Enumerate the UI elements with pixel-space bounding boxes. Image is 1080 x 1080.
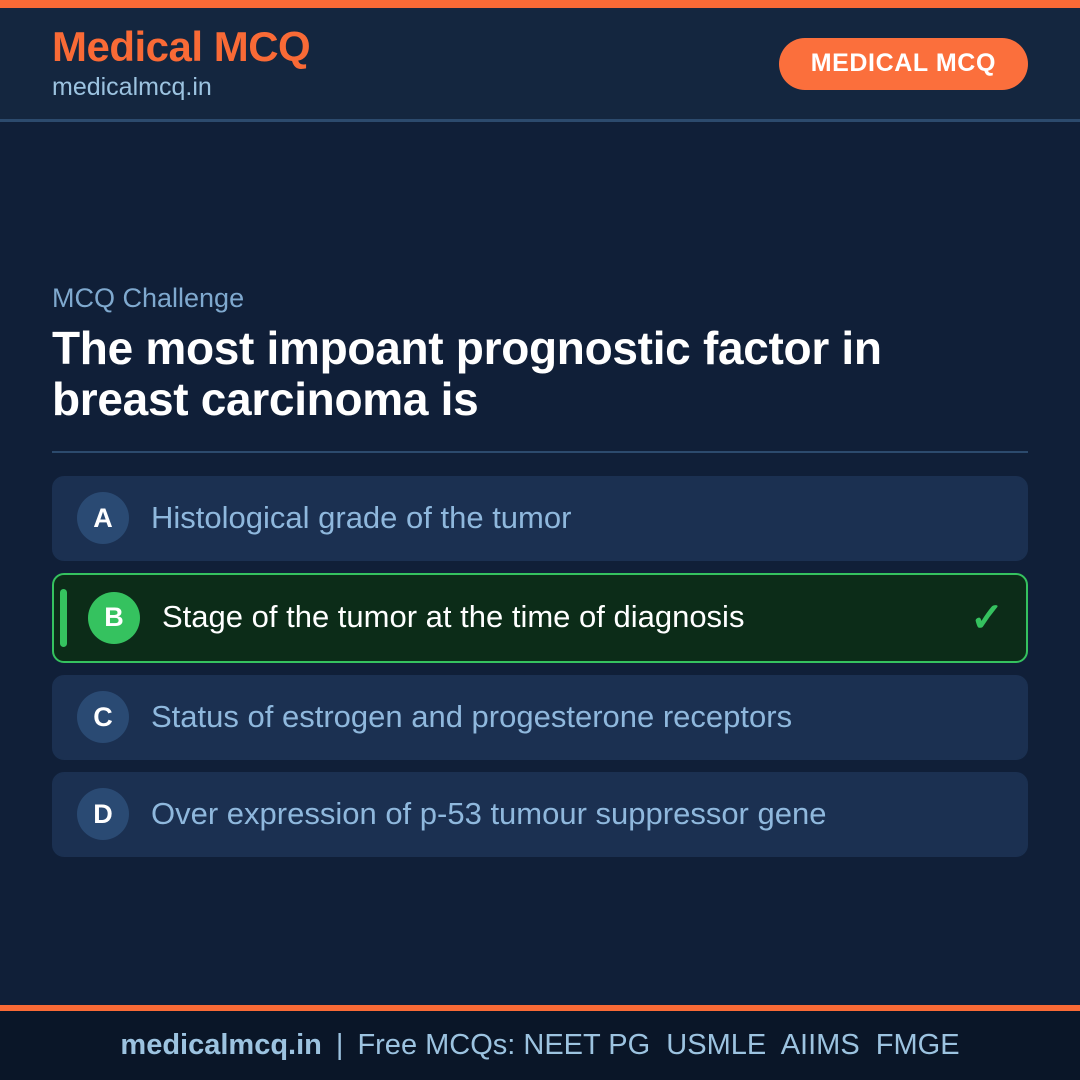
option-d[interactable]: D Over expression of p-53 tumour suppres… [52,772,1028,857]
option-a-text: Histological grade of the tumor [151,501,949,536]
top-accent-strip [0,0,1080,8]
option-c-letter: C [77,691,129,743]
question-block: MCQ Challenge The most impoant prognosti… [52,282,1028,856]
footer-bar: medicalmcq.in | Free MCQs: NEET PG USMLE… [0,1011,1080,1080]
brand-subtitle: medicalmcq.in [52,72,310,102]
brand-title: Medical MCQ [52,25,310,70]
checkmark-icon: ✓ [970,598,1004,638]
header-badge: MEDICAL MCQ [779,38,1028,90]
options-list: A Histological grade of the tumor B Stag… [52,476,1028,857]
question-divider [52,451,1028,453]
option-b-letter: B [88,592,140,644]
footer-exams-label: Free MCQs: NEET PG USMLE AIIMS FMGE [357,1031,959,1060]
footer-site-label[interactable]: medicalmcq.in [120,1031,321,1060]
main-content: MCQ Challenge The most impoant prognosti… [0,122,1080,1005]
option-b[interactable]: B Stage of the tumor at the time of diag… [52,573,1028,663]
option-d-letter: D [77,788,129,840]
option-c-text: Status of estrogen and progesterone rece… [151,700,949,735]
option-c[interactable]: C Status of estrogen and progesterone re… [52,675,1028,760]
footer-separator: | [322,1031,358,1060]
mcq-card: Medical MCQ medicalmcq.in MEDICAL MCQ MC… [0,0,1080,1080]
option-a-letter: A [77,492,129,544]
option-d-text: Over expression of p-53 tumour suppresso… [151,797,949,832]
question-text: The most impoant prognostic factor in br… [52,323,932,426]
option-b-text: Stage of the tumor at the time of diagno… [162,600,948,635]
header-bar: Medical MCQ medicalmcq.in MEDICAL MCQ [0,8,1080,122]
eyebrow-label: MCQ Challenge [52,282,1028,314]
correct-accent-bar [60,589,67,647]
brand-block: Medical MCQ medicalmcq.in [52,25,310,102]
option-a[interactable]: A Histological grade of the tumor [52,476,1028,561]
